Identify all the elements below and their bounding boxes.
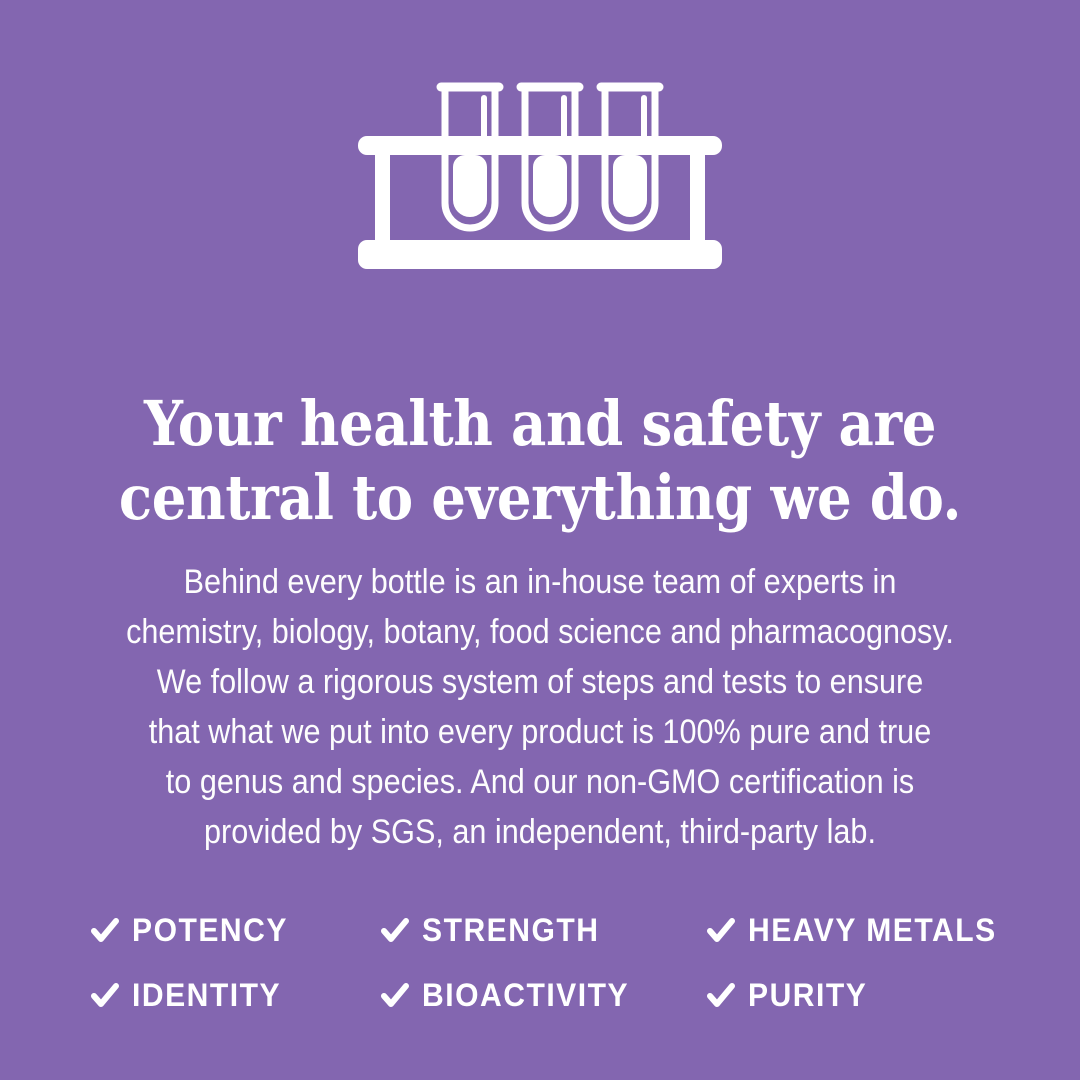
checklist-label: IDENTITY [132,977,281,1014]
body-line-3: We follow a rigorous system of steps and… [108,657,972,707]
checklist-label: PURITY [748,977,867,1014]
check-icon [380,981,410,1011]
page-title-line-2: central to everything we do. [65,461,1015,535]
body-paragraph: Behind every bottle is an in-house team … [108,557,972,857]
checklist-item-purity: PURITY [706,977,1020,1014]
checklist-item-bioactivity: BIOACTIVITY [380,977,706,1014]
checklist-label: HEAVY METALS [748,912,997,949]
checklist-label: POTENCY [132,912,288,949]
test-tube-rack-icon [358,70,722,277]
page-title-line-1: Your health and safety are [65,387,1015,461]
checklist-item-strength: STRENGTH [380,912,706,949]
body-line-4: that what we put into every product is 1… [108,707,972,757]
checklist-label: STRENGTH [422,912,599,949]
check-icon [380,916,410,946]
icon-container [0,70,1080,290]
check-icon [706,981,736,1011]
promo-card: Your health and safety are central to ev… [0,0,1080,1080]
checklist-item-identity: IDENTITY [90,977,380,1014]
test-checklist: POTENCY STRENGTH HEAVY METALS IDENTITY B [90,898,1020,1028]
check-icon [706,916,736,946]
body-line-6: provided by SGS, an independent, third-p… [108,807,972,857]
page-title: Your health and safety are central to ev… [65,387,1015,535]
check-icon [90,981,120,1011]
body-line-2: chemistry, biology, botany, food science… [108,607,972,657]
checklist-item-potency: POTENCY [90,912,380,949]
body-line-1: Behind every bottle is an in-house team … [108,557,972,607]
body-line-5: to genus and species. And our non-GMO ce… [108,757,972,807]
checklist-label: BIOACTIVITY [422,977,629,1014]
checklist-item-heavy-metals: HEAVY METALS [706,912,1020,949]
check-icon [90,916,120,946]
